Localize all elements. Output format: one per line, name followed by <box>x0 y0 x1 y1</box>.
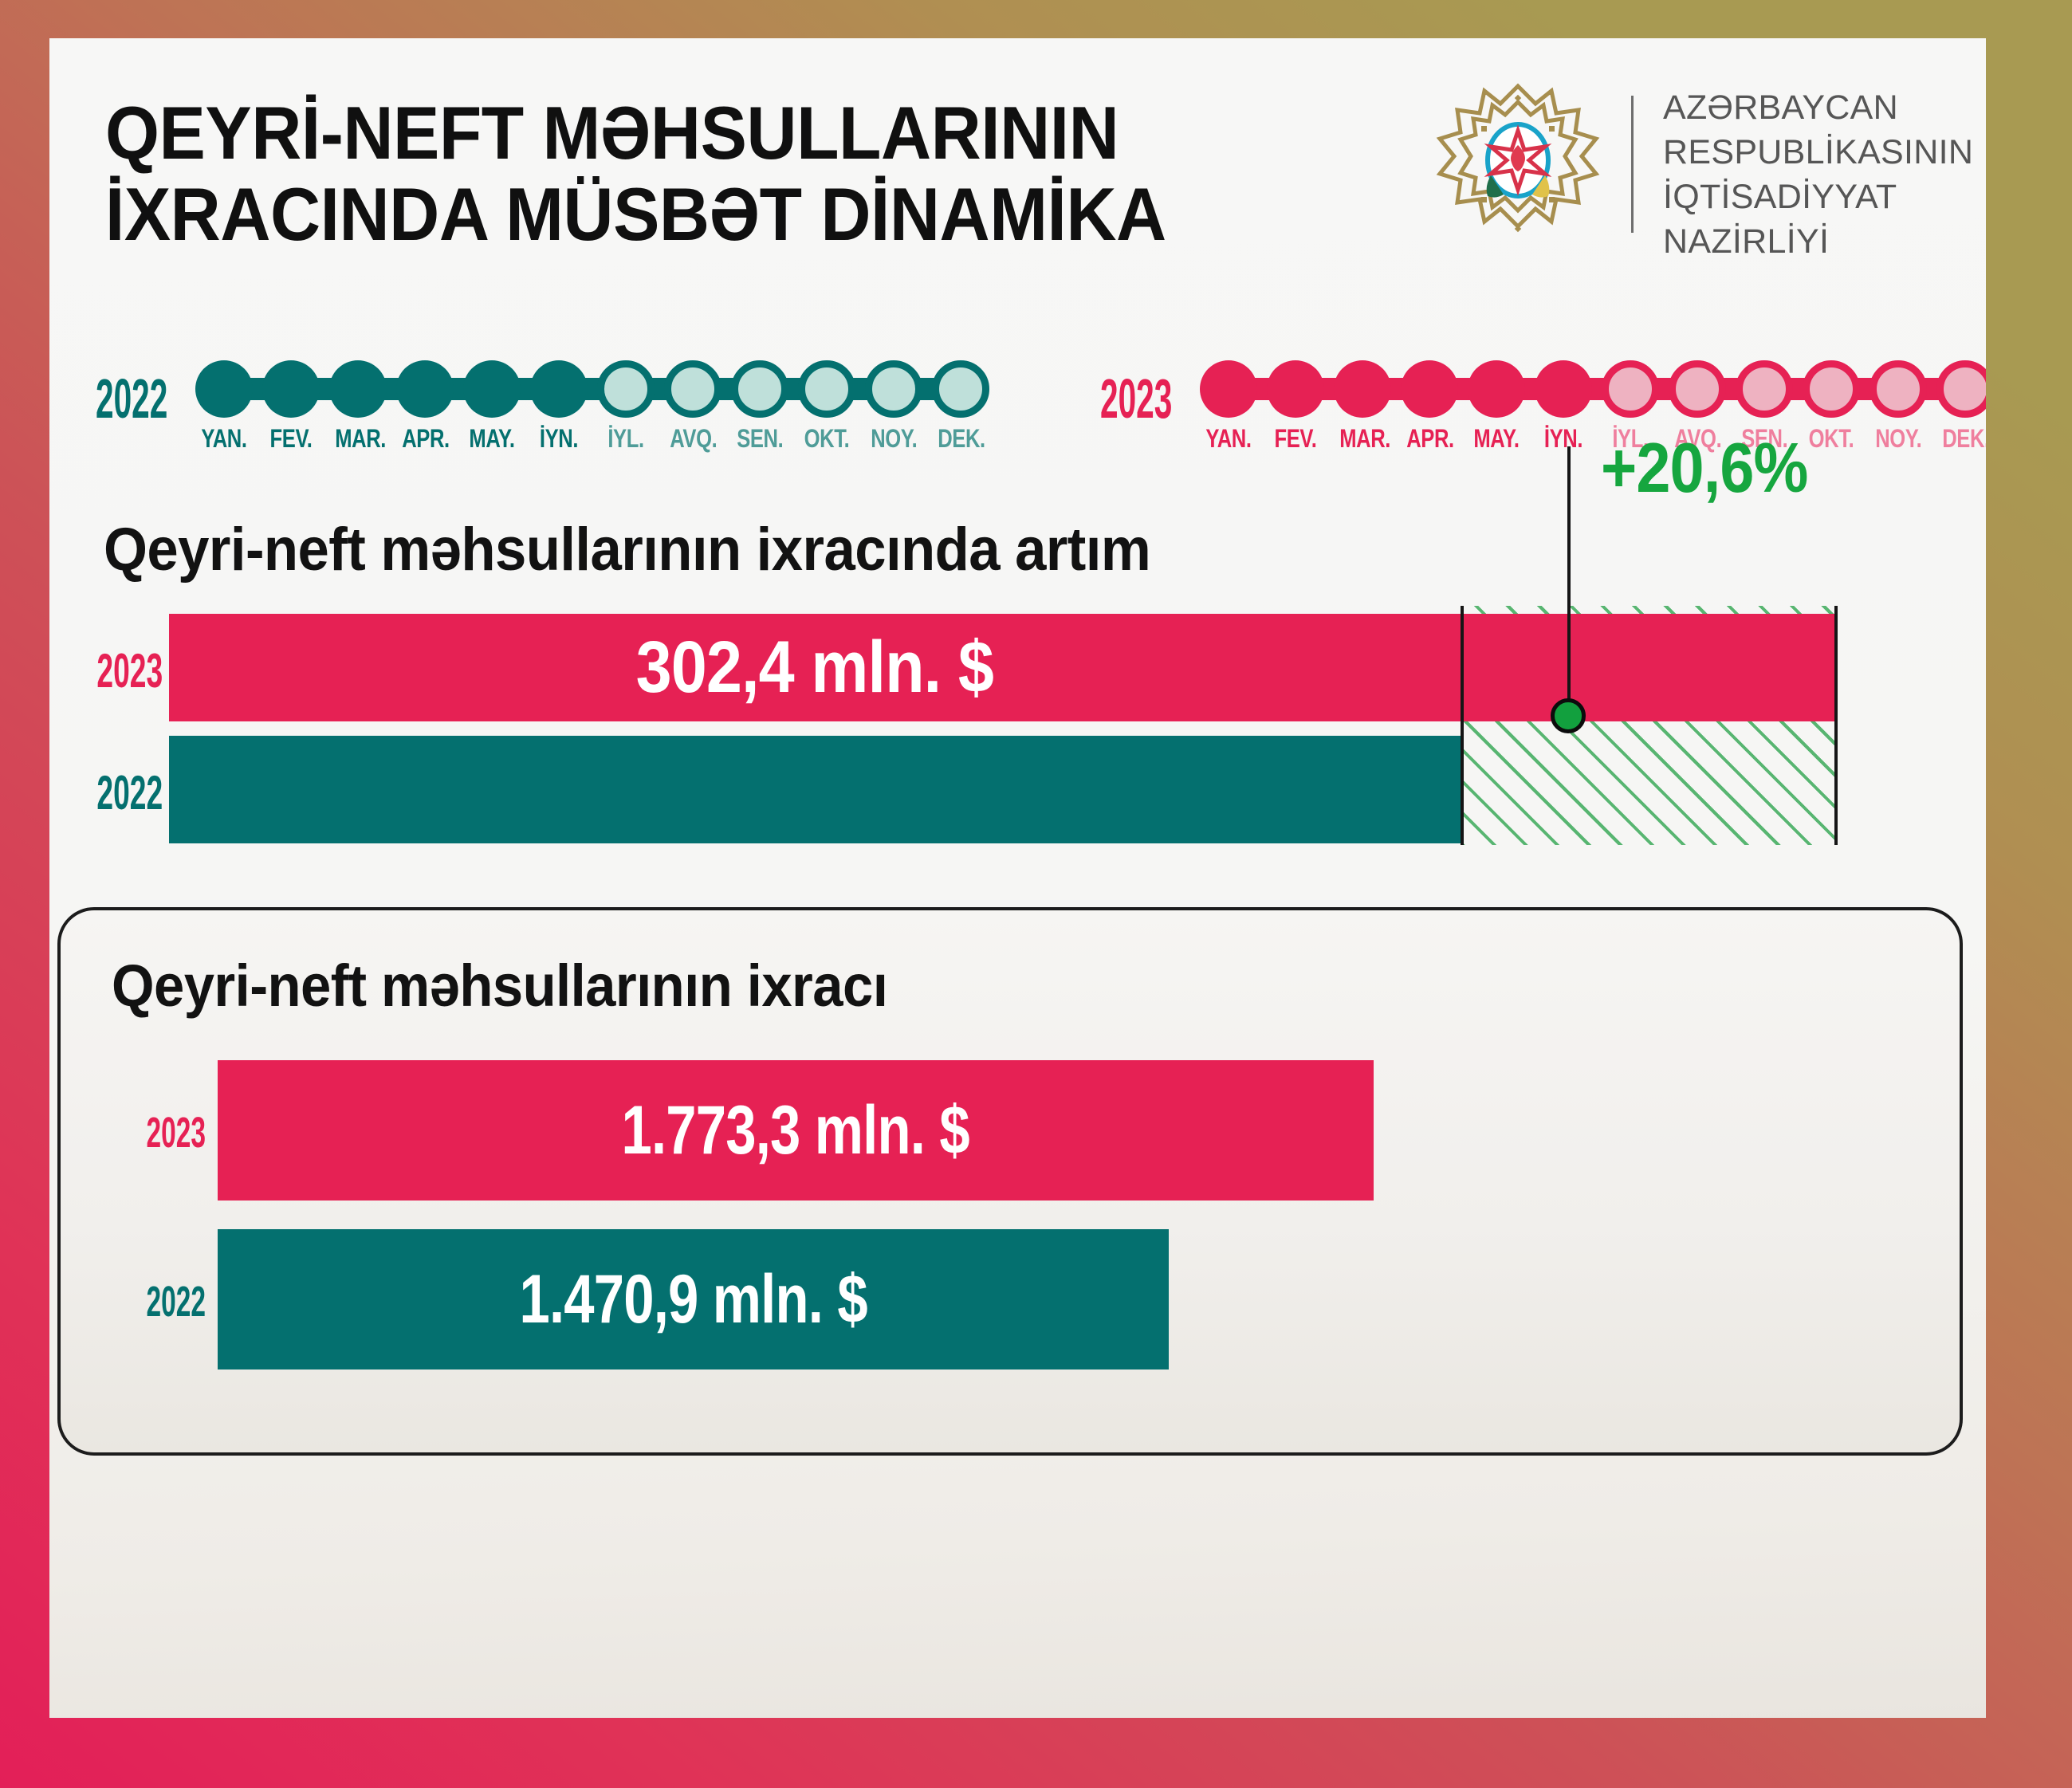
logo-divider <box>1631 96 1634 233</box>
timeline-connector-bar <box>208 378 977 400</box>
timeline-month-label: OKT. <box>804 424 850 454</box>
timeline-month-label: İYN. <box>1540 424 1586 454</box>
export-value-2022: 1.470,9 mln. $ <box>519 1260 867 1339</box>
page-title: QEYRİ-NEFT MƏHSULLARININ İXRACINDA MÜSBƏ… <box>105 92 1307 254</box>
timeline-month-labels: YAN.FEV.MAR.APR.MAY.İYN.İYL.AVQ.SEN.OKT.… <box>1200 424 1986 459</box>
timeline-dot-okt <box>798 360 855 418</box>
timeline-month-label: FEV. <box>1272 424 1319 454</box>
timeline-month-label: NOY. <box>1875 424 1921 454</box>
timeline-month-label: NOY. <box>871 424 917 454</box>
timeline-year-label: 2022 <box>96 367 167 430</box>
timeline-month-labels: YAN.FEV.MAR.APR.MAY.İYN.İYL.AVQ.SEN.OKT.… <box>195 424 989 459</box>
timeline-dot-yan <box>1200 360 1257 418</box>
growth-bar-2022 <box>169 736 1461 843</box>
growth-year-label-2022: 2022 <box>96 765 161 820</box>
export-bar-2022: 1.470,9 mln. $ <box>218 1229 1169 1369</box>
export-year-label-2022: 2022 <box>145 1277 206 1326</box>
timeline-month-label: MAY. <box>469 424 515 454</box>
timeline-dot-i̇yl <box>597 360 655 418</box>
export-card-title: Qeyri-neft məhsullarının ixracı <box>112 952 887 1020</box>
timeline-dot-may <box>1468 360 1525 418</box>
export-card: Qeyri-neft məhsullarının ixracı 1.773,3 … <box>57 907 1963 1456</box>
timeline-dot-mar <box>329 360 387 418</box>
timeline-month-label: FEV. <box>268 424 314 454</box>
timeline-month-label: APR. <box>1406 424 1453 454</box>
timeline-month-label: DEK. <box>1942 424 1986 454</box>
timeline-dot-i̇yl <box>1602 360 1659 418</box>
timeline-dot-okt <box>1803 360 1860 418</box>
growth-year-label-2023: 2023 <box>96 643 161 698</box>
timeline-dot-yan <box>195 360 253 418</box>
timeline-month-label: MAR. <box>335 424 381 454</box>
timeline-dot-fev <box>262 360 320 418</box>
gradient-frame: QEYRİ-NEFT MƏHSULLARININ İXRACINDA MÜSBƏ… <box>0 0 2072 1788</box>
timeline-dot-avq <box>1669 360 1726 418</box>
export-bar-2023: 1.773,3 mln. $ <box>218 1060 1374 1201</box>
growth-section-title: Qeyri-neft məhsullarının ixracında artım <box>104 515 1150 584</box>
timeline-month-label: YAN. <box>201 424 247 454</box>
timeline-dot-mar <box>1334 360 1391 418</box>
export-value-2023: 1.773,3 mln. $ <box>622 1091 969 1170</box>
azerbaijan-state-emblem-icon <box>1435 81 1601 247</box>
export-year-label-2023: 2023 <box>145 1108 206 1157</box>
timeline-dot-sen <box>1736 360 1793 418</box>
timeline-dot-noy <box>865 360 922 418</box>
growth-value-2023: 302,4 mln. $ <box>169 614 1461 721</box>
percent-leader-line <box>1567 446 1571 717</box>
timeline-2022: 2022 YAN.FEV.MAR.APR.MAY.İYN.İYL.AVQ.SEN… <box>96 349 1020 477</box>
timeline-dot-i̇yn <box>530 360 588 418</box>
timeline-year-label: 2023 <box>1100 367 1172 430</box>
timeline-dot-noy <box>1870 360 1927 418</box>
ministry-logo: AZƏRBAYCAN RESPUBLİKASININ İQTİSADİYYAT … <box>1435 80 1986 249</box>
timeline-month-label: AVQ. <box>670 424 716 454</box>
delta-edge-line-right <box>1834 606 1838 845</box>
timeline-month-label: MAR. <box>1339 424 1386 454</box>
timeline-month-label: İYL. <box>603 424 649 454</box>
timeline-dot-apr <box>396 360 454 418</box>
timeline-dot-fev <box>1267 360 1324 418</box>
timeline-month-label: DEK. <box>938 424 984 454</box>
header: QEYRİ-NEFT MƏHSULLARININ İXRACINDA MÜSBƏ… <box>49 38 1986 277</box>
timeline-connector-bar <box>1213 378 1981 400</box>
timeline-dot-avq <box>664 360 721 418</box>
delta-edge-line-left <box>1461 606 1464 845</box>
timeline-2023: 2023 YAN.FEV.MAR.APR.MAY.İYN.İYL.AVQ.SEN… <box>1100 349 1986 477</box>
timeline-track <box>1200 360 1986 418</box>
timeline-month-label: İYN. <box>536 424 582 454</box>
timeline-dot-sen <box>731 360 788 418</box>
timeline-month-label: APR. <box>402 424 448 454</box>
timeline-dot-dek <box>932 360 989 418</box>
timeline-dot-apr <box>1401 360 1458 418</box>
timeline-dot-dek <box>1936 360 1986 418</box>
growth-percent-label: +20,6% <box>1601 427 1808 509</box>
infographic-page: QEYRİ-NEFT MƏHSULLARININ İXRACINDA MÜSBƏ… <box>49 38 1986 1718</box>
timeline-track <box>195 360 989 418</box>
timeline-month-label: MAY. <box>1473 424 1520 454</box>
percent-marker-dot <box>1551 698 1586 733</box>
timeline-month-label: OKT. <box>1808 424 1854 454</box>
timeline-month-label: SEN. <box>737 424 783 454</box>
timeline-dot-may <box>463 360 521 418</box>
ministry-name: AZƏRBAYCAN RESPUBLİKASININ İQTİSADİYYAT … <box>1663 86 1986 265</box>
growth-chart: 302,4 mln. $ 2023 2022 +20,6% <box>49 606 1986 845</box>
timeline-dot-i̇yn <box>1535 360 1592 418</box>
timeline-month-label: YAN. <box>1205 424 1252 454</box>
